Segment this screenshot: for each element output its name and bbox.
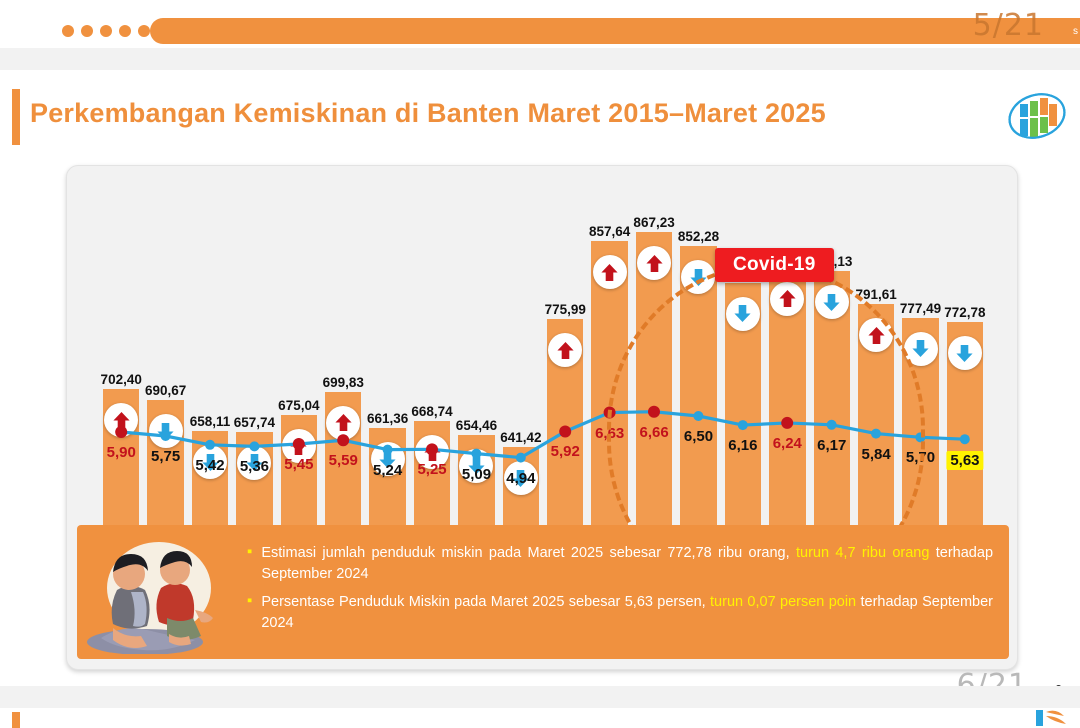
note-bullet-item: ▪Persentase Penduduk Miskin pada Maret 2… — [247, 592, 993, 634]
bar-column[interactable]: 675,045,45 — [277, 178, 321, 555]
arrow-up-icon — [593, 255, 627, 289]
bar-column[interactable]: 775,995,92 — [543, 178, 587, 555]
bar-value-label: 857,64 — [589, 224, 630, 239]
note-text-plain-1: Persentase Penduduk Miskin pada Maret 20… — [261, 594, 710, 610]
bar-column[interactable]: 641,424,94 — [499, 178, 543, 555]
arrow-up-icon — [637, 246, 671, 280]
slide-canvas: Perkembangan Kemiskinan di Banten Maret … — [0, 70, 1080, 682]
percentage-value-label: 5,90 — [107, 444, 136, 461]
next-slide-logo — [1020, 708, 1068, 726]
next-slide-accent-bar — [12, 712, 20, 728]
note-text-highlight: turun 0,07 persen poin — [710, 594, 856, 610]
bar-value-label: 702,40 — [101, 372, 142, 387]
note-bullet-item: ▪Estimasi jumlah penduduk miskin pada Ma… — [247, 543, 993, 585]
bar-value-label: 641,42 — [500, 430, 541, 445]
bar-value-label: 867,23 — [633, 215, 674, 230]
side-mark-text: s — [1073, 26, 1078, 37]
page-indicator-top: 5/21 — [973, 8, 1044, 43]
bar-column[interactable]: 702,405,90 — [99, 178, 143, 555]
dot-1 — [62, 25, 74, 37]
arrow-down-icon — [948, 336, 982, 370]
slide-gap-band — [0, 48, 1080, 70]
arrow-down-icon — [149, 414, 183, 448]
page-title: Perkembangan Kemiskinan di Banten Maret … — [30, 98, 826, 129]
dot-4 — [119, 25, 131, 37]
bar-column[interactable]: 657,745,36 — [232, 178, 276, 555]
percentage-value-label: 5,92 — [551, 443, 580, 460]
percentage-value-label: 5,45 — [284, 456, 313, 473]
previous-slide-footer-strip: 5/21 s — [0, 0, 1080, 48]
bar-value-label: 654,46 — [456, 418, 497, 433]
note-text-highlight: turun 4,7 ribu orang — [796, 545, 929, 561]
percentage-value-label: 5,36 — [240, 458, 269, 475]
bar-value-label: 675,04 — [278, 398, 319, 413]
bar-column[interactable]: 690,675,75 — [143, 178, 187, 555]
dot-5 — [138, 25, 150, 37]
bar-value-label: 657,74 — [234, 415, 275, 430]
orange-bar-decoration — [150, 18, 1080, 44]
covid-annotation-label: Covid-19 — [715, 248, 834, 282]
note-text-plain-1: Estimasi jumlah penduduk miskin pada Mar… — [261, 545, 796, 561]
chart-card: 702,405,90690,675,75658,115,42657,745,36… — [66, 165, 1018, 670]
percentage-value-label: 5,75 — [151, 448, 180, 465]
summary-note-box: ▪Estimasi jumlah penduduk miskin pada Ma… — [77, 525, 1009, 659]
arrow-up-icon — [326, 406, 360, 440]
percentage-value-label: 5,63 — [946, 451, 983, 470]
bar-value-label: 690,67 — [145, 383, 186, 398]
bar-value-label: 699,83 — [323, 375, 364, 390]
bar-value-label: 772,78 — [944, 305, 985, 320]
note-bullet-text: Estimasi jumlah penduduk miskin pada Mar… — [261, 543, 993, 585]
bottom-gap-band — [0, 686, 1080, 708]
note-bullet-text: Persentase Penduduk Miskin pada Maret 20… — [261, 592, 993, 634]
title-accent-bar — [12, 89, 20, 145]
percentage-value-label: 5,42 — [195, 457, 224, 474]
bar-column[interactable]: 658,115,42 — [188, 178, 232, 555]
bar-value-label: 775,99 — [545, 302, 586, 317]
arrow-up-icon — [104, 403, 138, 437]
dot-2 — [81, 25, 93, 37]
two-children-illustration — [83, 530, 233, 654]
note-text-block: ▪Estimasi jumlah penduduk miskin pada Ma… — [233, 537, 1009, 647]
dot-decoration — [62, 25, 150, 37]
bullet-marker-icon: ▪ — [247, 592, 252, 634]
bar-column[interactable]: 654,465,09 — [454, 178, 498, 555]
dot-3 — [100, 25, 112, 37]
percentage-value-label: 5,24 — [373, 462, 402, 479]
bar-value-label: 852,28 — [678, 229, 719, 244]
bar-column[interactable]: 699,835,59 — [321, 178, 365, 555]
percentage-value-label: 5,59 — [329, 452, 358, 469]
percentage-value-label: 5,09 — [462, 466, 491, 483]
arrow-up-icon — [548, 333, 582, 367]
percentage-value-label: 4,94 — [506, 470, 535, 487]
percentage-value-label: 5,25 — [417, 461, 446, 478]
bar-value-label: 661,36 — [367, 411, 408, 426]
bar-column[interactable]: 668,745,25 — [410, 178, 454, 555]
bullet-marker-icon: ▪ — [247, 543, 252, 585]
bar-column[interactable]: 661,365,24 — [365, 178, 409, 555]
bar-value-label: 668,74 — [411, 404, 452, 419]
bar-value-label: 777,49 — [900, 301, 941, 316]
bps-logo — [1006, 88, 1068, 146]
bar-column[interactable]: 772,785,63 — [943, 178, 987, 555]
bar-value-label: 658,11 — [190, 414, 231, 429]
